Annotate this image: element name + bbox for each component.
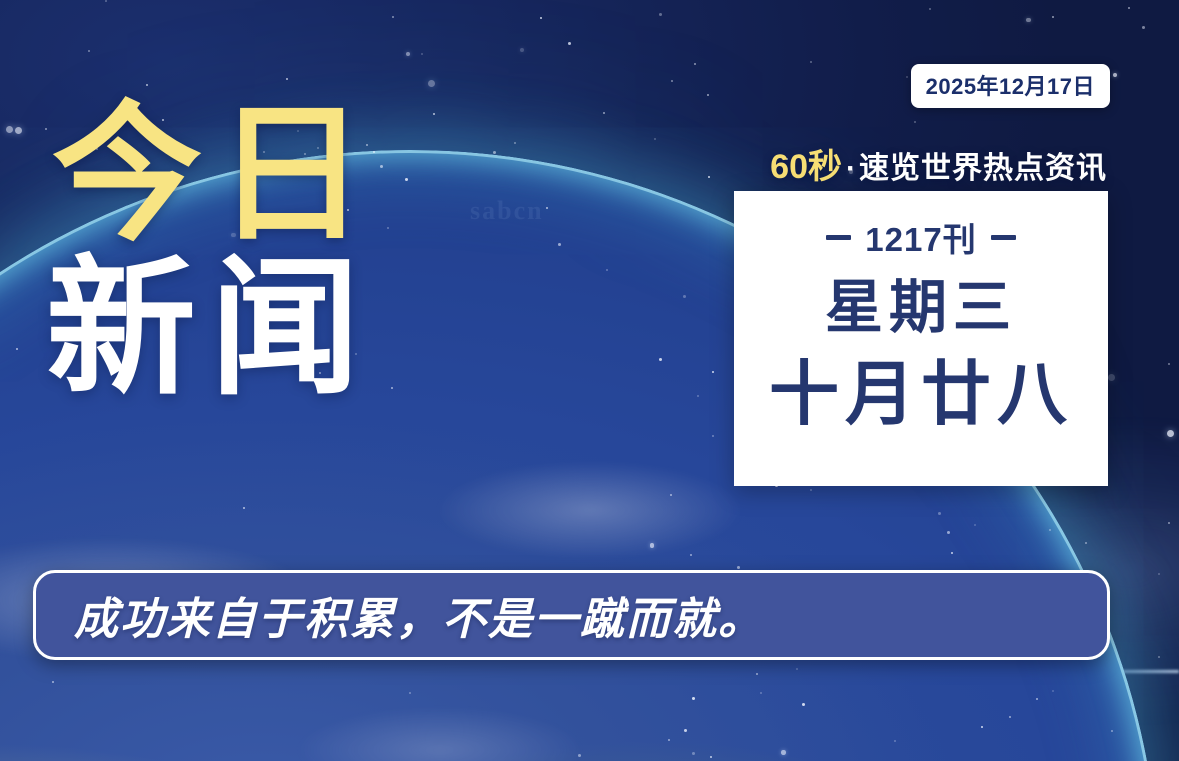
quote-text: 成功来自于积累，不是一蹴而就。 [36, 583, 764, 647]
page-title-line-2: 新闻 [46, 254, 380, 402]
page-title: 今日 新闻 [52, 100, 380, 402]
date-card: 1217刊 星期三 十月廿八 [734, 191, 1108, 486]
issue-dash-left-icon [826, 235, 851, 240]
news-poster: sabcn 今日 新闻 2025年12月17日 60秒·速览世界热点资讯 121… [0, 0, 1179, 761]
watermark: sabcn [470, 196, 544, 226]
issue-dash-right-icon [991, 235, 1016, 240]
quote-bar: 成功来自于积累，不是一蹴而就。 [33, 570, 1110, 660]
issue-number-row: 1217刊 [826, 213, 1015, 261]
lunar-date-label: 十月廿八 [769, 359, 1073, 429]
tagline-seconds: 60秒 [770, 148, 842, 186]
tagline: 60秒·速览世界热点资讯 [770, 139, 1107, 188]
issue-number: 1217刊 [865, 213, 976, 261]
date-badge: 2025年12月17日 [911, 64, 1110, 108]
tagline-separator: · [842, 152, 859, 185]
page-title-line-1: 今日 [52, 100, 380, 248]
weekday-label: 星期三 [825, 279, 1017, 337]
tagline-text: 速览世界热点资讯 [859, 152, 1107, 185]
